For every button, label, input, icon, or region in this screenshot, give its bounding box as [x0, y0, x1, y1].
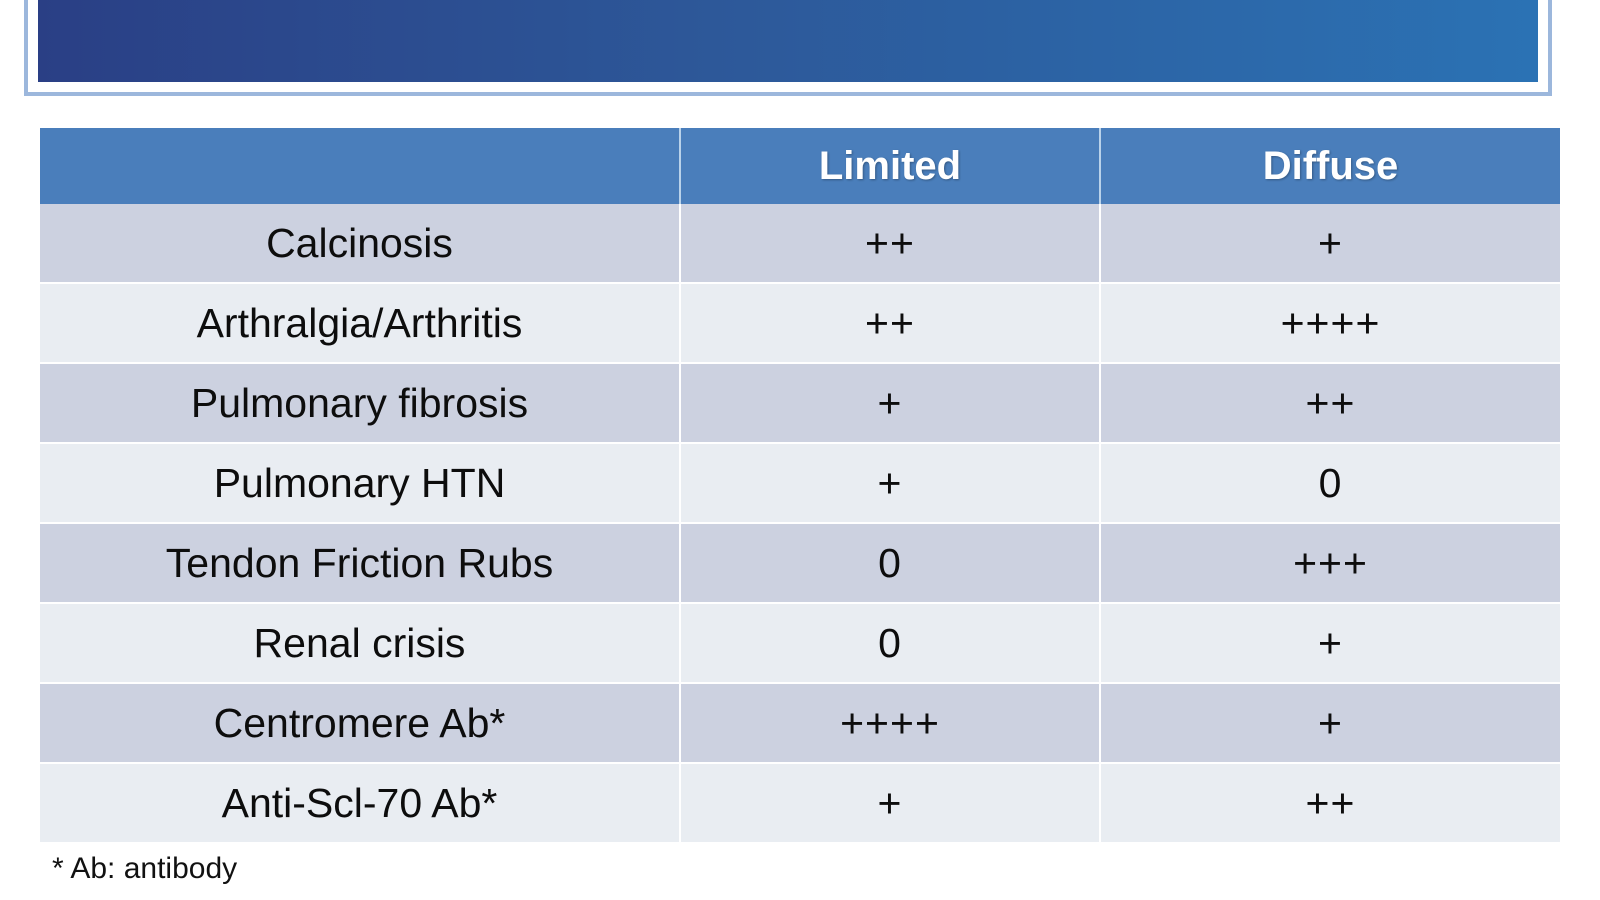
table-row: Anti-Scl-70 Ab* + ++	[40, 763, 1560, 843]
table-body: Calcinosis ++ + Arthralgia/Arthritis ++ …	[40, 204, 1560, 843]
table-row: Renal crisis 0 +	[40, 603, 1560, 683]
slide-title-banner: Limited vs Diffuse Scleroderma	[24, 0, 1552, 96]
table-header: Limited Diffuse	[40, 128, 1560, 204]
footnote-text: * Ab: antibody	[52, 852, 237, 886]
column-header-feature	[40, 128, 680, 204]
table-row: Centromere Ab* ++++ +	[40, 683, 1560, 763]
row-limited-value: 0	[680, 603, 1100, 683]
comparison-table-wrapper: Limited Diffuse Calcinosis ++ + Arthralg…	[40, 128, 1560, 844]
table-row: Calcinosis ++ +	[40, 204, 1560, 283]
row-limited-value: ++++	[680, 683, 1100, 763]
row-limited-value: 0	[680, 523, 1100, 603]
column-header-diffuse: Diffuse	[1100, 128, 1560, 204]
table-row: Arthralgia/Arthritis ++ ++++	[40, 283, 1560, 363]
row-feature-label: Pulmonary HTN	[40, 443, 680, 523]
row-limited-value: +	[680, 443, 1100, 523]
row-diffuse-value: ++	[1100, 363, 1560, 443]
row-feature-label: Centromere Ab*	[40, 683, 680, 763]
table-row: Pulmonary HTN + 0	[40, 443, 1560, 523]
row-feature-label: Renal crisis	[40, 603, 680, 683]
slide-title-gradient: Limited vs Diffuse Scleroderma	[38, 0, 1538, 82]
row-diffuse-value: ++	[1100, 763, 1560, 843]
row-feature-label: Tendon Friction Rubs	[40, 523, 680, 603]
row-diffuse-value: +	[1100, 204, 1560, 283]
row-diffuse-value: +	[1100, 603, 1560, 683]
row-limited-value: +	[680, 763, 1100, 843]
row-diffuse-value: +++	[1100, 523, 1560, 603]
row-diffuse-value: +	[1100, 683, 1560, 763]
row-feature-label: Anti-Scl-70 Ab*	[40, 763, 680, 843]
table-header-row: Limited Diffuse	[40, 128, 1560, 204]
table-row: Tendon Friction Rubs 0 +++	[40, 523, 1560, 603]
row-limited-value: ++	[680, 204, 1100, 283]
row-limited-value: ++	[680, 283, 1100, 363]
row-feature-label: Arthralgia/Arthritis	[40, 283, 680, 363]
row-limited-value: +	[680, 363, 1100, 443]
row-diffuse-value: 0	[1100, 443, 1560, 523]
row-feature-label: Calcinosis	[40, 204, 680, 283]
row-diffuse-value: ++++	[1100, 283, 1560, 363]
table-row: Pulmonary fibrosis + ++	[40, 363, 1560, 443]
row-feature-label: Pulmonary fibrosis	[40, 363, 680, 443]
comparison-table: Limited Diffuse Calcinosis ++ + Arthralg…	[40, 128, 1560, 844]
column-header-limited: Limited	[680, 128, 1100, 204]
